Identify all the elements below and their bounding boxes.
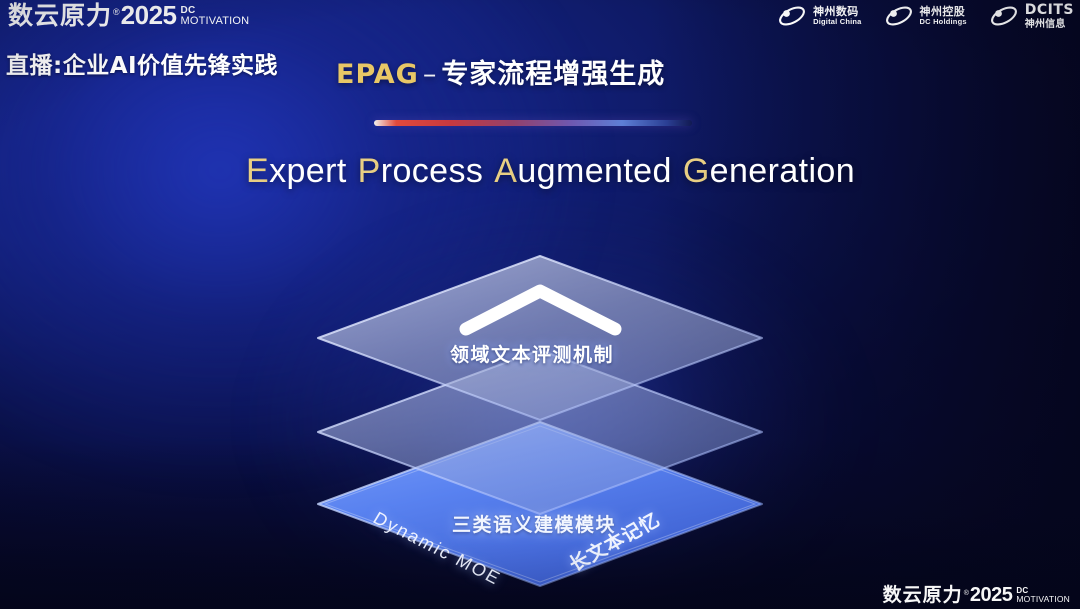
subtitle-initial: E (246, 152, 269, 190)
subtitle-word: Augmented (494, 152, 672, 190)
watermark-chinese: 数云原力 (883, 586, 963, 605)
partner-logo-dc-holdings: 神州控股 DC Holdings (884, 5, 967, 27)
isometric-layer-stack: 三类语义建模模块 Dynamic MOE 长 (300, 228, 780, 568)
swirl-logo-icon (777, 5, 807, 27)
brand-logo-dc-motivation: DC MOTIVATION (181, 6, 250, 27)
subtitle-english: ExpertProcessAugmentedGeneration (246, 152, 855, 191)
subtitle-rest: rocess (381, 152, 484, 190)
partner-logo-dcits: DCITS 神州信息 (989, 3, 1074, 30)
partner-name-cn: DCITS (1025, 3, 1074, 19)
partner-name-en: 神州信息 (1025, 19, 1074, 30)
gradient-divider (374, 120, 692, 126)
slide-canvas: 数云原力 ® 2025 DC MOTIVATION 直播:企业AI价值先锋实践 … (0, 0, 1080, 609)
swirl-logo-icon (989, 5, 1019, 27)
registered-mark-icon: ® (964, 590, 969, 597)
headline-acronym: EPAG (336, 59, 419, 90)
brand-logo-year: 2025 (121, 2, 177, 28)
headline: EPAG–专家流程增强生成 (336, 52, 665, 91)
brand-logo-top-left: 数云原力 ® 2025 DC MOTIVATION (8, 2, 249, 28)
stack-layer-top-label: 领域文本评测机制 (450, 340, 614, 367)
subtitle-initial: P (358, 152, 381, 190)
watermark-motivation: MOTIVATION (1016, 595, 1070, 604)
subtitle-word: Generation (683, 152, 855, 190)
subtitle-initial: A (494, 152, 517, 190)
headline-chinese: 专家流程增强生成 (441, 59, 665, 90)
subtitle-rest: xpert (269, 152, 347, 190)
brand-logo-chinese: 数云原力 (8, 3, 112, 28)
brand-logo-motivation: MOTIVATION (181, 16, 250, 27)
registered-mark-icon: ® (113, 7, 120, 17)
live-banner-text: 直播:企业AI价值先锋实践 (6, 46, 278, 80)
chevron-up-icon (458, 281, 623, 337)
watermark-year: 2025 (970, 585, 1013, 605)
subtitle-rest: ugmented (517, 152, 671, 190)
partner-name-en: DC Holdings (920, 18, 967, 26)
partner-logo-bar: 神州数码 Digital China 神州控股 DC Holdings (777, 3, 1074, 30)
subtitle-rest: eneration (710, 152, 855, 190)
stack-layer-top[interactable]: 领域文本评测机制 (300, 238, 780, 428)
partner-logo-digital-china: 神州数码 Digital China (777, 5, 861, 27)
brand-watermark-bottom-right: 数云原力 ® 2025 DC MOTIVATION (883, 585, 1070, 605)
partner-name-en: Digital China (813, 18, 861, 26)
subtitle-word: Process (358, 152, 484, 190)
swirl-logo-icon (884, 5, 914, 27)
watermark-dc-motivation: DC MOTIVATION (1016, 587, 1070, 604)
subtitle-initial: G (683, 152, 710, 190)
headline-separator: – (419, 59, 442, 90)
subtitle-word: Expert (246, 152, 347, 190)
